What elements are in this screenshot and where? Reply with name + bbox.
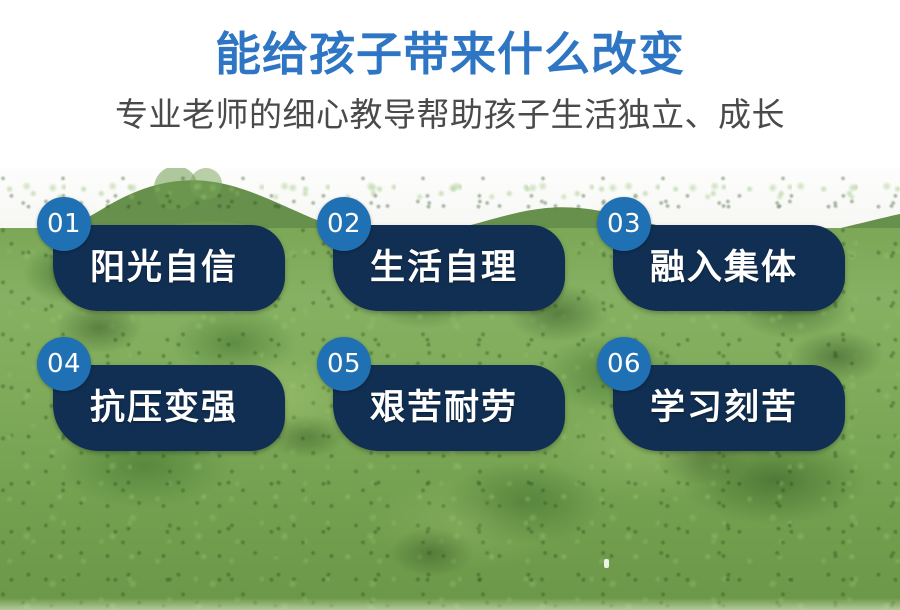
benefit-card-number-badge: 01 (37, 197, 91, 251)
benefit-card-03[interactable]: 融入集体 03 (597, 197, 845, 283)
benefit-card-body: 生活自理 (333, 225, 565, 311)
benefit-card-body: 融入集体 (613, 225, 845, 311)
page-subtitle: 专业老师的细心教导帮助孩子生活独立、成长 (0, 82, 900, 136)
benefit-card-number-badge: 03 (597, 197, 651, 251)
benefit-card-05[interactable]: 艰苦耐劳 05 (317, 337, 565, 423)
benefit-card-06[interactable]: 学习刻苦 06 (597, 337, 845, 423)
benefit-card-grid: 阳光自信 01 生活自理 02 融入集体 03 抗压变强 04 艰苦耐劳 (0, 168, 900, 610)
benefit-card-body: 艰苦耐劳 (333, 365, 565, 451)
benefit-card-04[interactable]: 抗压变强 04 (37, 337, 285, 423)
benefit-card-number-badge: 02 (317, 197, 371, 251)
benefit-card-body: 抗压变强 (53, 365, 285, 451)
promo-poster: 能给孩子带来什么改变 专业老师的细心教导帮助孩子生活独立、成长 阳光自信 01 (0, 0, 900, 610)
benefit-card-number-badge: 06 (597, 337, 651, 391)
benefit-card-02[interactable]: 生活自理 02 (317, 197, 565, 283)
benefit-card-number-badge: 04 (37, 337, 91, 391)
benefit-card-number-badge: 05 (317, 337, 371, 391)
benefit-card-01[interactable]: 阳光自信 01 (37, 197, 285, 283)
page-title: 能给孩子带来什么改变 (0, 0, 900, 82)
benefit-card-body: 学习刻苦 (613, 365, 845, 451)
benefit-card-body: 阳光自信 (53, 225, 285, 311)
poster-header: 能给孩子带来什么改变 专业老师的细心教导帮助孩子生活独立、成长 (0, 0, 900, 168)
